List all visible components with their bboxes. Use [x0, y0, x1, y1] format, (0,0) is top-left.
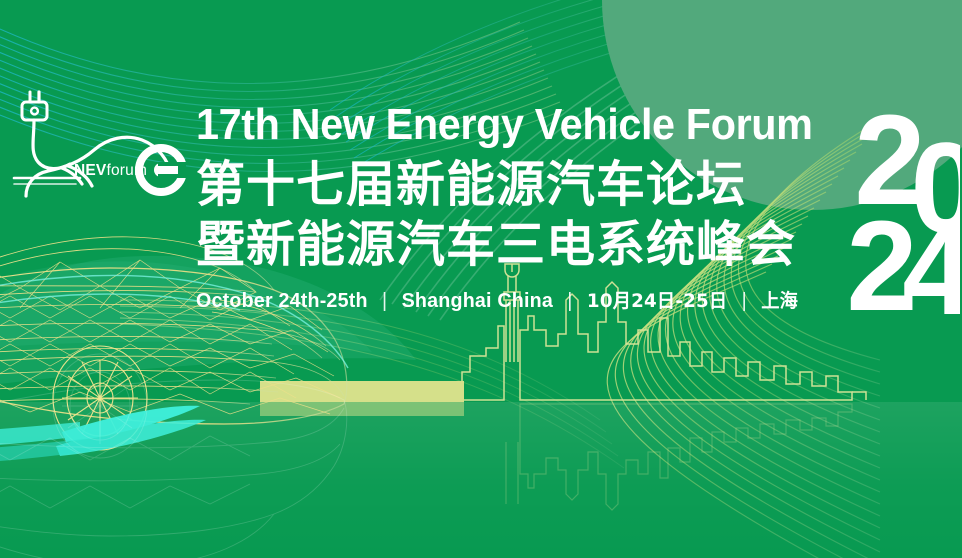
nevforum-logo[interactable]: NEVforum	[8, 78, 186, 210]
headline-block: 17th New Energy Vehicle Forum 第十七届新能源汽车论…	[196, 100, 846, 313]
year-digit-3: 4	[902, 199, 960, 318]
meta-separator-3: |	[733, 289, 756, 312]
year-badge-2024: 2 0 2 4	[842, 104, 960, 318]
logo-wordmark-bold: NEV	[74, 162, 106, 179]
meta-location-cn: 上海	[761, 290, 798, 312]
poster-canvas: NEVforum 17th New Energy Vehicle Forum 第…	[0, 0, 962, 558]
meta-date-cn: 10月24日-25日	[587, 290, 727, 312]
meta-separator-2: |	[559, 289, 582, 312]
event-meta-line: October 24th-25th | Shanghai China | 10月…	[196, 286, 820, 313]
logo-wordmark-light: forum	[106, 162, 147, 179]
meta-separator-1: |	[373, 289, 396, 312]
horizon-light-bar	[260, 381, 464, 402]
horizon-light-bar-reflection	[260, 402, 464, 416]
meta-date-en: October 24th-25th	[196, 289, 368, 312]
year-2024-numerals: 2 0 2 4	[842, 104, 960, 318]
english-title: 17th New Energy Vehicle Forum	[196, 100, 807, 150]
chinese-title-line1: 第十七届新能源汽车论坛	[196, 156, 846, 214]
logo-wordmark: NEVforum	[74, 162, 147, 180]
meta-location-en: Shanghai China	[402, 289, 553, 312]
water-reflection-band	[0, 402, 962, 558]
chinese-title-line2: 暨新能源汽车三电系统峰会	[196, 216, 846, 274]
electric-car-plug-icon	[8, 78, 186, 210]
